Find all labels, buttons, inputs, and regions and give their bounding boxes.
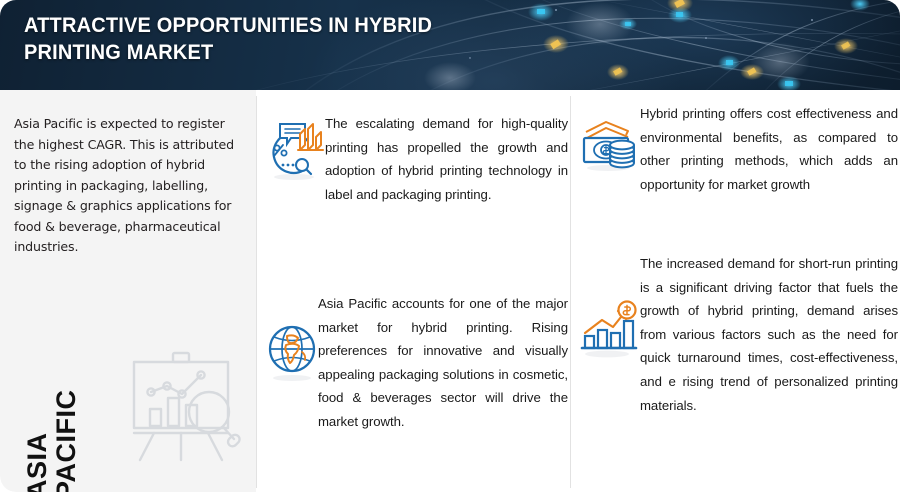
insight-text: Hybrid printing offers cost effectivenes…: [640, 102, 898, 196]
presentation-chart-search-icon: [120, 348, 246, 470]
insight-text: The increased demand for short-run print…: [640, 252, 898, 417]
header-banner: ATTRACTIVE OPPORTUNITIES IN HYBRID PRINT…: [0, 0, 900, 90]
region-intro-text: Asia Pacific is expected to register the…: [14, 114, 246, 258]
region-label: ASIA PACIFIC: [23, 339, 81, 492]
insight-text: The escalating demand for high-quality p…: [325, 112, 568, 206]
infographic-card: ATTRACTIVE OPPORTUNITIES IN HYBRID PRINT…: [0, 0, 900, 492]
column-divider-right: [570, 96, 571, 488]
money-cash-coins-icon: [576, 112, 640, 174]
page-title: ATTRACTIVE OPPORTUNITIES IN HYBRID PRINT…: [24, 12, 601, 66]
globe-icon: [262, 322, 326, 384]
column-divider-left: [256, 96, 257, 488]
insight-text: Asia Pacific accounts for one of the maj…: [318, 292, 568, 434]
left-region-panel: Asia Pacific is expected to register the…: [0, 90, 256, 492]
growth-bar-chart-dollar-icon: [576, 300, 640, 362]
right-column: Hybrid printing offers cost effectivenes…: [576, 90, 898, 492]
percent-analytics-bar-chart-icon: [262, 120, 326, 182]
middle-column: The escalating demand for high-quality p…: [262, 90, 568, 492]
content-area: Asia Pacific is expected to register the…: [0, 90, 900, 492]
